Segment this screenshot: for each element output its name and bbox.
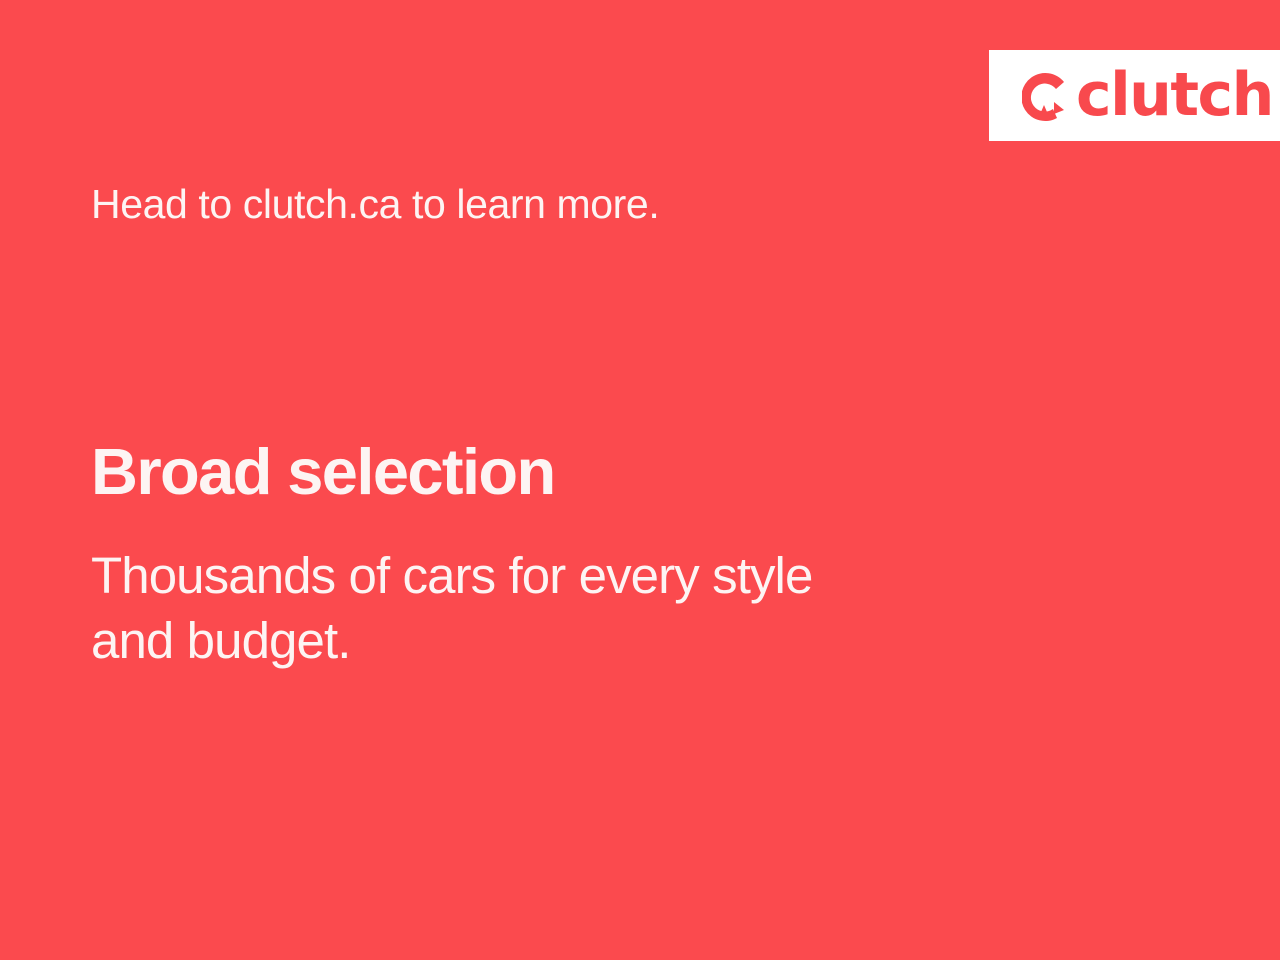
- clutch-c-mark-icon: [1022, 71, 1072, 123]
- subheading-text: Thousands of cars for every style and bu…: [91, 543, 1051, 674]
- brand-plaque: clutch: [989, 50, 1280, 141]
- headline-text: Broad selection: [91, 437, 555, 507]
- promo-slide: clutch Head to clutch.ca to learn more. …: [0, 0, 1280, 960]
- subheading-line-1: Thousands of cars for every style: [91, 543, 1051, 608]
- tagline-text: Head to clutch.ca to learn more.: [91, 180, 659, 228]
- subheading-line-2: and budget.: [91, 608, 1051, 673]
- clutch-logo[interactable]: clutch: [1022, 67, 1273, 125]
- clutch-wordmark: clutch: [1076, 65, 1273, 125]
